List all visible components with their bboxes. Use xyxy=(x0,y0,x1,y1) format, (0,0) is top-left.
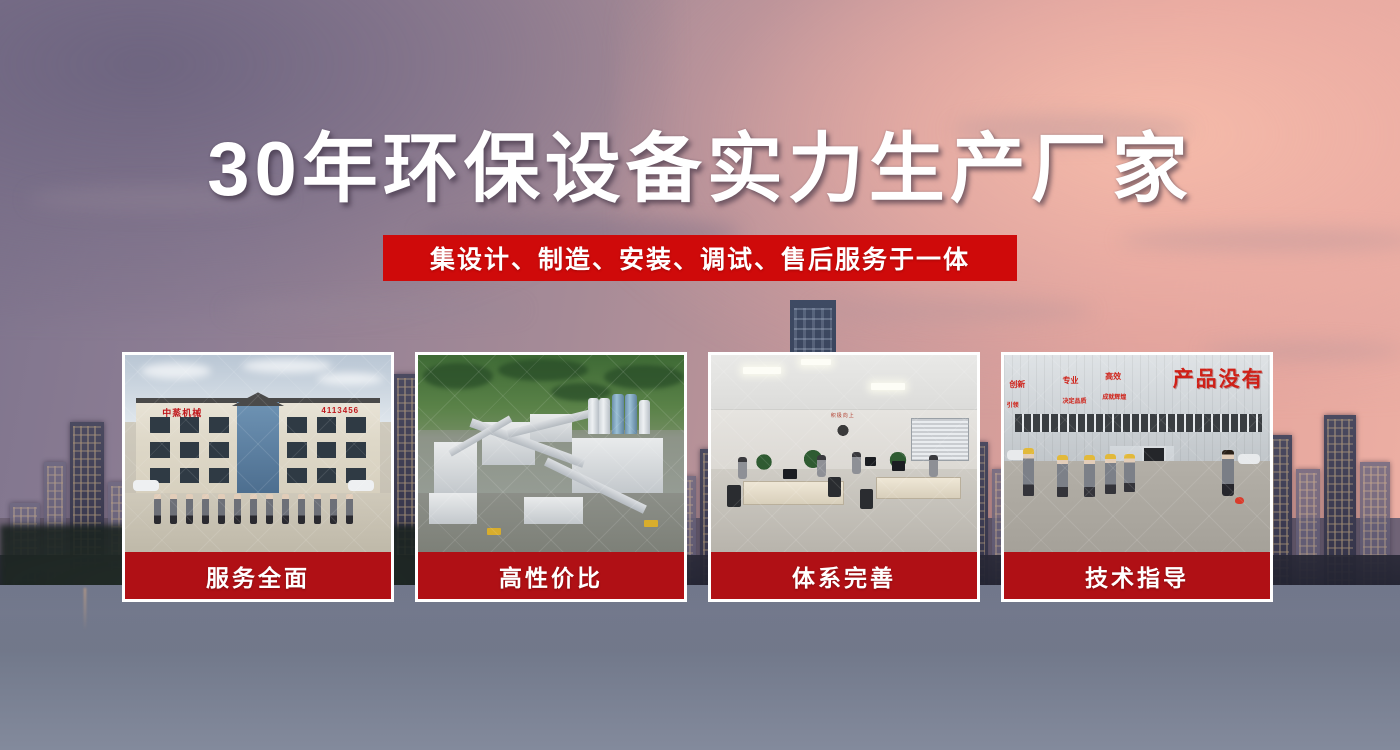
card-photo-office-building: 中蒸机械 4113456 xyxy=(122,352,394,552)
card-photo-industrial-plant xyxy=(415,352,687,552)
factory-sign-3: 高效 xyxy=(1105,371,1121,382)
factory-sign-4: 成就辉煌 xyxy=(1102,392,1126,401)
river-water xyxy=(0,585,1400,750)
card-caption-text: 高性价比 xyxy=(499,559,603,593)
card-caption-text: 体系完善 xyxy=(792,559,896,593)
card-caption: 高性价比 xyxy=(415,552,687,602)
hero-banner: 30年环保设备实力生产厂家 集设计、制造、安装、调试、售后服务于一体 xyxy=(0,0,1400,750)
factory-sign-6: 引领 xyxy=(1007,400,1019,409)
card-caption-text: 服务全面 xyxy=(206,559,310,593)
factory-sign-2: 决定品质 xyxy=(1063,396,1087,405)
water-reflection xyxy=(84,588,86,631)
subtitle-banner: 集设计、制造、安装、调试、售后服务于一体 xyxy=(383,235,1017,281)
card-photo-office-interior: 积极向上 xyxy=(708,352,980,552)
factory-sign-5: 创新 xyxy=(1009,379,1025,390)
factory-sign-main: 产品没有 xyxy=(1173,363,1265,393)
page-title: 30年环保设备实力生产厂家 xyxy=(0,132,1400,208)
card-caption: 体系完善 xyxy=(708,552,980,602)
card-caption: 服务全面 xyxy=(122,552,394,602)
building-sign-text: 中蒸机械 xyxy=(162,406,202,419)
card-caption-text: 技术指导 xyxy=(1085,559,1189,593)
subtitle-text: 集设计、制造、安装、调试、售后服务于一体 xyxy=(430,240,970,276)
factory-sign-1: 专业 xyxy=(1063,375,1079,386)
card-photo-worker-briefing: 产品没有 创新 引领 专业 决定品质 高效 成就辉煌 xyxy=(1001,352,1273,552)
cloud-shape xyxy=(1120,228,1400,252)
feature-card[interactable]: 产品没有 创新 引领 专业 决定品质 高效 成就辉煌 xyxy=(1001,352,1273,602)
feature-card[interactable]: 中蒸机械 4113456 xyxy=(122,352,394,602)
feature-card[interactable]: 积极向上 xyxy=(708,352,980,602)
feature-card-list: 中蒸机械 4113456 xyxy=(122,352,1278,602)
building-phone-text: 4113456 xyxy=(321,406,359,415)
card-caption: 技术指导 xyxy=(1001,552,1273,602)
feature-card[interactable]: 高性价比 xyxy=(415,352,687,602)
